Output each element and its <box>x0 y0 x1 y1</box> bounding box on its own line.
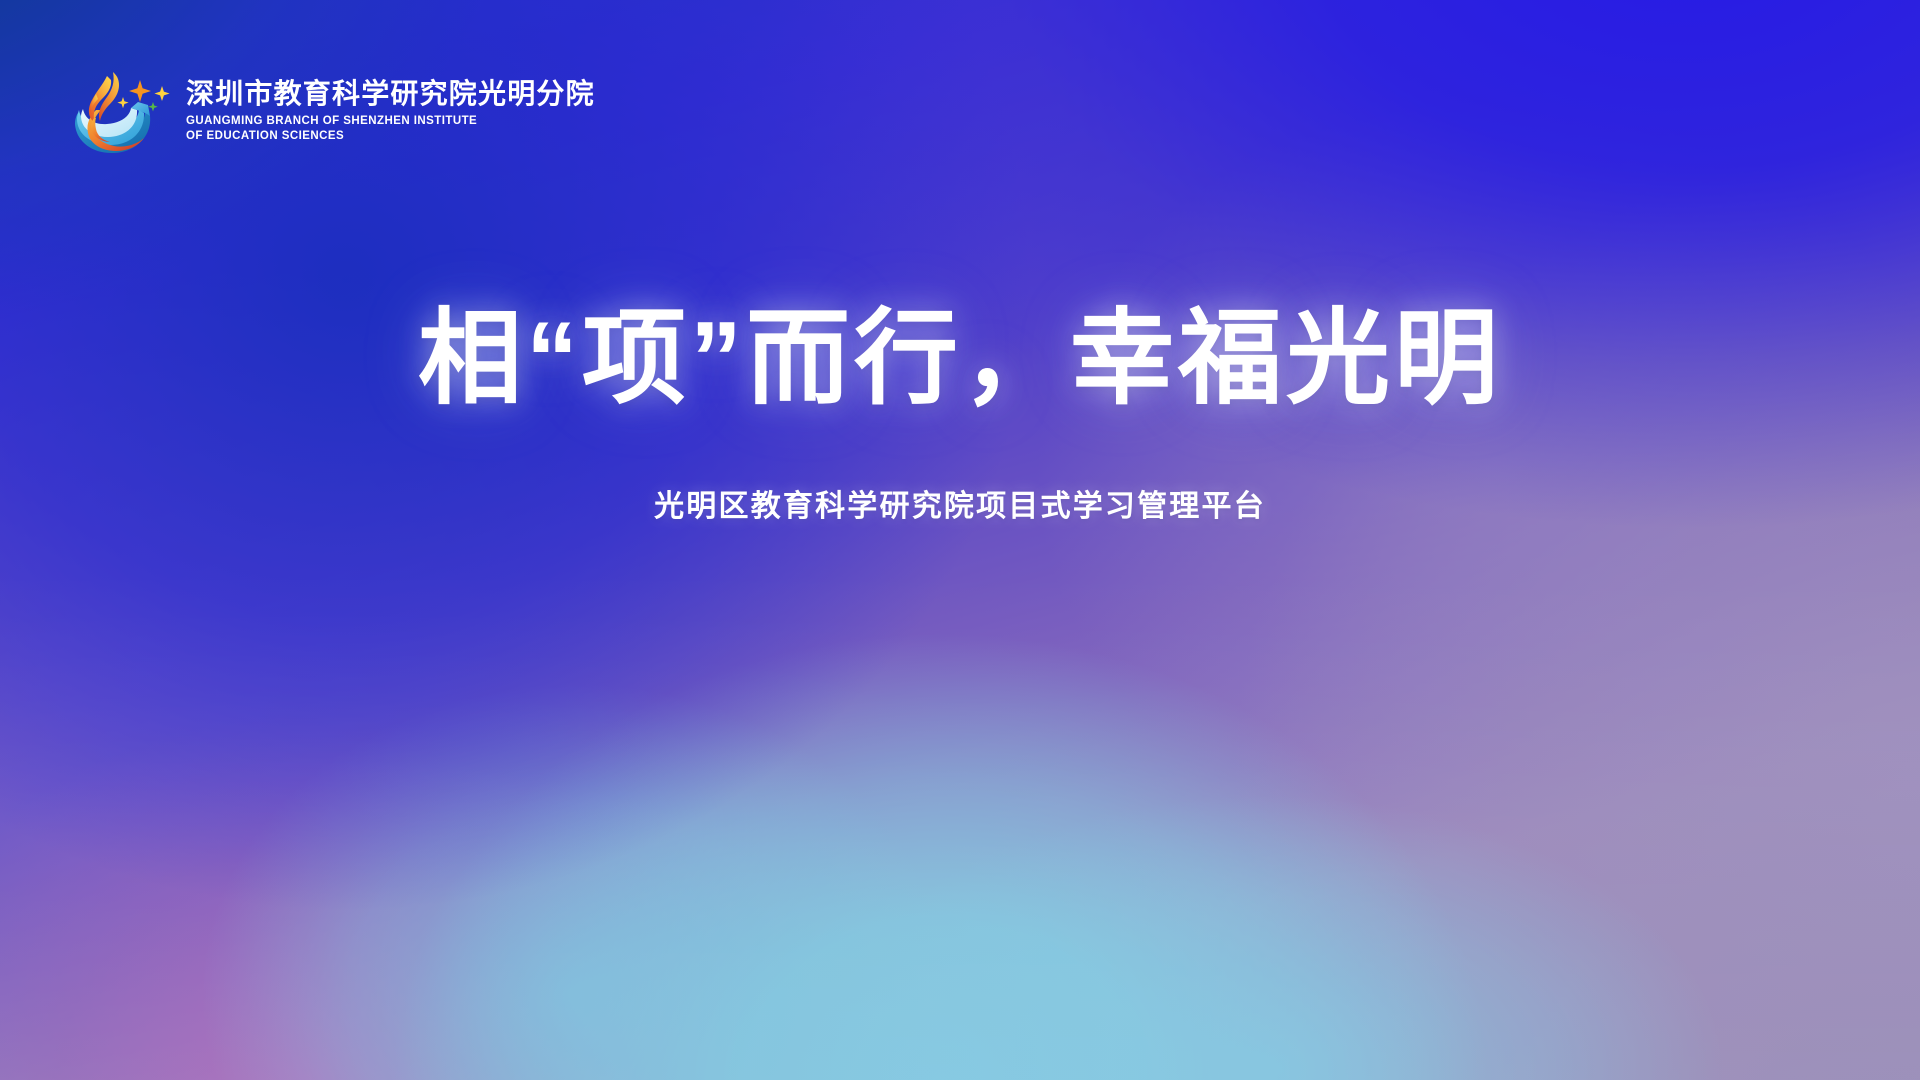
background-cyan-band-3 <box>0 0 1920 1080</box>
cover-screen: 深圳市教育科学研究院光明分院 GUANGMING BRANCH OF SHENZ… <box>0 0 1920 1080</box>
background-lavender-bloom-2 <box>0 0 1920 1080</box>
sparkle-icon-medium <box>154 86 169 101</box>
brand-name-en-line2: OF EDUCATION SCIENCES <box>186 129 526 144</box>
brand-name-en-line1: GUANGMING BRANCH OF SHENZHEN INSTITUTE <box>186 114 526 129</box>
background-base-gradient <box>0 0 1920 1080</box>
brand-logo-lockup[interactable]: 深圳市教育科学研究院光明分院 GUANGMING BRANCH OF SHENZ… <box>52 58 595 158</box>
sparkle-icon-green <box>148 102 157 111</box>
background-cyan-band-2 <box>0 0 1920 1080</box>
background-bottom-right-bloom <box>0 0 1920 1080</box>
sparkle-icon-small <box>117 97 128 108</box>
background-lavender-bloom <box>0 0 1920 1080</box>
hero-section: 相“项”而行，幸福光明 光明区教育科学研究院项目式学习管理平台 <box>0 0 1920 1080</box>
brand-text-block: 深圳市教育科学研究院光明分院 GUANGMING BRANCH OF SHENZ… <box>186 72 595 144</box>
background-magenta-bloom <box>0 0 1920 1080</box>
sparkle-icon-large <box>129 80 151 102</box>
flame-swoosh-logo-icon <box>52 58 170 158</box>
background-violet-bloom <box>0 0 1920 1080</box>
background-blue-upper-right <box>0 0 1920 1080</box>
page-title: 相“项”而行，幸福光明 <box>0 296 1920 423</box>
brand-name-cn: 深圳市教育科学研究院光明分院 <box>186 78 595 109</box>
page-subtitle: 光明区教育科学研究院项目式学习管理平台 <box>0 487 1920 526</box>
background-navy-upper-left <box>0 0 1920 1080</box>
brand-name-en: GUANGMING BRANCH OF SHENZHEN INSTITUTE O… <box>186 114 526 143</box>
background-blue-mid-bloom <box>0 0 1920 1080</box>
background-cyan-band <box>0 0 1920 1080</box>
background-soft-overlay <box>0 0 1920 1080</box>
